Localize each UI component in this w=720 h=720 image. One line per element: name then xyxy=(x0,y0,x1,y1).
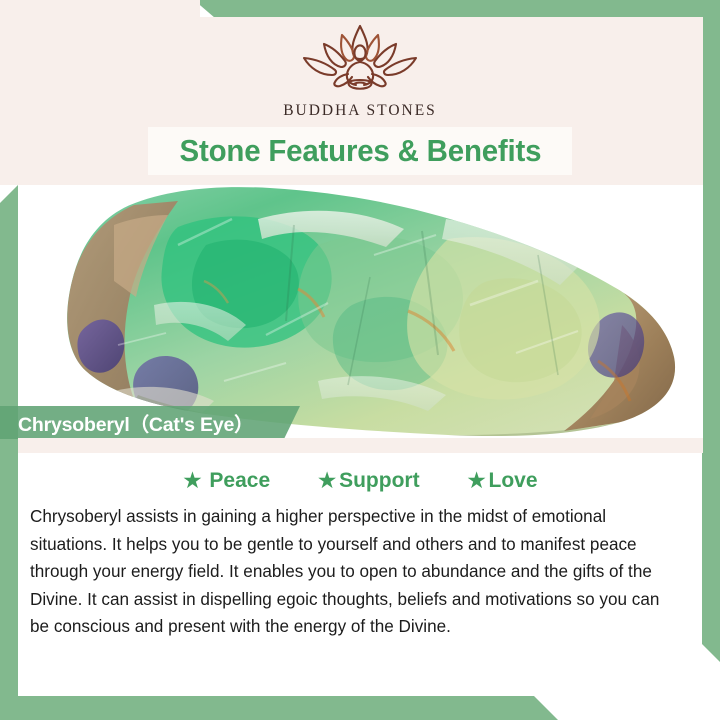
brand-logo: BUDDHA STONES xyxy=(0,22,720,120)
brand-wordmark: BUDDHA STONES xyxy=(283,102,437,120)
stone-photo-illustration xyxy=(18,185,703,438)
infographic-card: BUDDHA STONES Stone Features & Benefits xyxy=(0,0,720,720)
page-title: Stone Features & Benefits xyxy=(179,133,541,169)
keyword-support: ★ Support xyxy=(318,469,419,493)
star-icon: ★ xyxy=(318,471,336,491)
frame-band-bottom xyxy=(0,696,558,720)
keyword-label: Support xyxy=(339,469,419,493)
title-banner: Stone Features & Benefits xyxy=(148,127,572,175)
keyword-love: ★ Love xyxy=(468,469,538,493)
keyword-label: Love xyxy=(489,469,538,493)
stone-name-text: Chrysoberyl（Cat's Eye） xyxy=(0,408,253,437)
stone-name-banner: Chrysoberyl（Cat's Eye） xyxy=(0,406,300,439)
keyword-peace: ★ Peace xyxy=(183,469,270,493)
lotus-meditation-icon xyxy=(286,22,434,96)
divider-strip xyxy=(18,438,703,453)
star-icon: ★ xyxy=(183,471,201,491)
stone-photo xyxy=(18,185,703,438)
keyword-list: ★ Peace ★ Support ★ Love xyxy=(18,462,703,500)
frame-band-top xyxy=(194,0,720,18)
star-icon: ★ xyxy=(468,471,486,491)
keyword-label: Peace xyxy=(209,469,270,493)
frame-band-left xyxy=(0,185,18,720)
header-top-left-fill xyxy=(0,0,200,18)
description-paragraph: Chrysoberyl assists in gaining a higher … xyxy=(30,503,680,641)
